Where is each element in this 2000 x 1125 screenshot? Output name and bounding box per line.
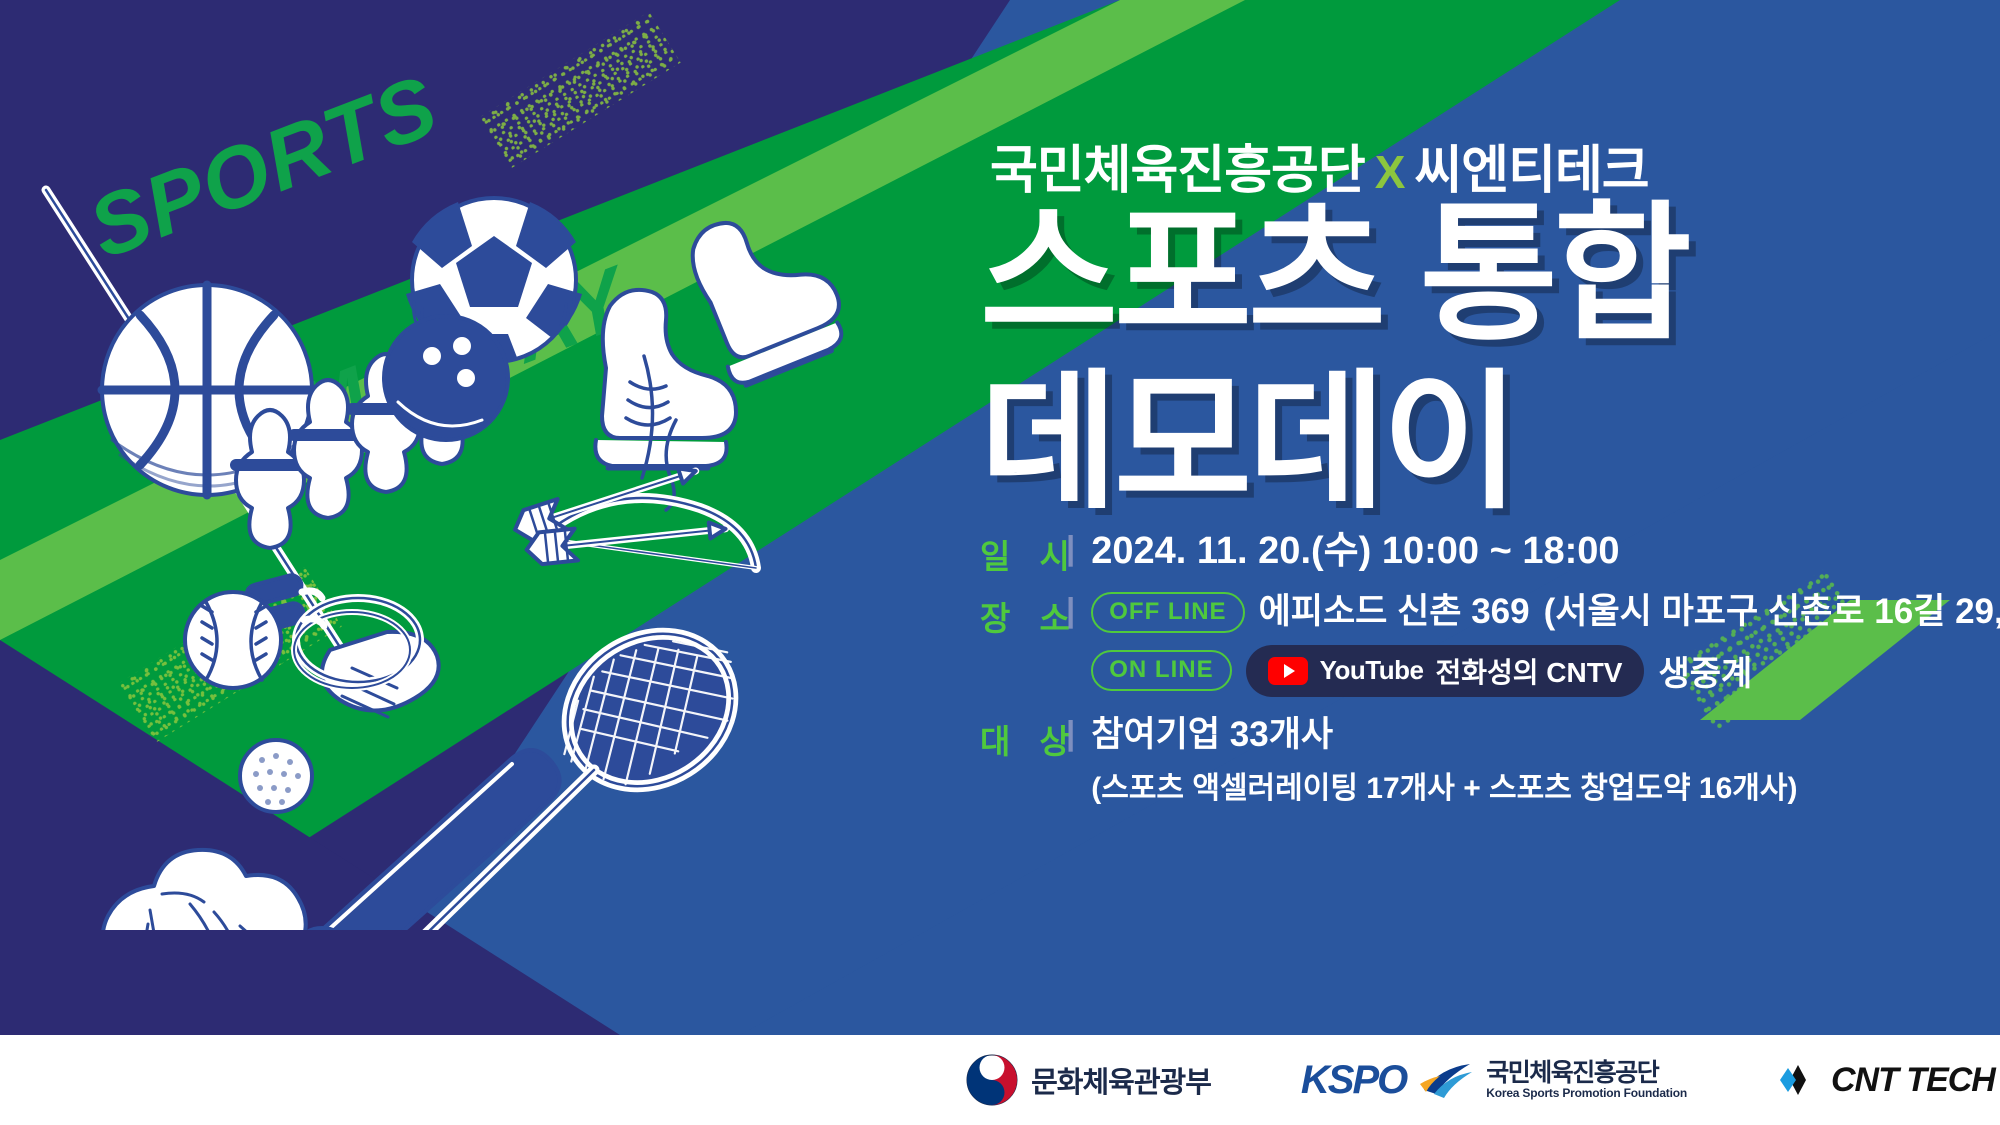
- info-row-place: 장 소 | OFF LINE 에피소드 신촌 369 (서울시 마포구 신촌로 …: [980, 592, 1990, 697]
- date-label: 일 시: [980, 530, 1066, 578]
- youtube-channel-badge[interactable]: YouTube 전화성의 CNTV: [1246, 645, 1645, 697]
- date-separator: |: [1066, 530, 1075, 566]
- youtube-play-icon: [1268, 657, 1308, 685]
- offline-badge: OFF LINE: [1091, 592, 1244, 633]
- kspo-korean-name: 국민체육진흥공단: [1486, 1060, 1687, 1088]
- taegeuk-icon: [965, 1053, 1019, 1107]
- online-badge: ON LINE: [1091, 650, 1231, 691]
- ice-skates-icon: [595, 192, 855, 510]
- live-stream-text: 생중계: [1658, 646, 1752, 695]
- target-separator: |: [1066, 715, 1075, 751]
- info-row-date: 일 시 | 2024. 11. 20.(수) 10:00 ~ 18:00: [980, 530, 1990, 578]
- footer-logo-bar: 문화체육관광부 KSPO 국민체육진흥공단 Korea Sports Promo…: [0, 1035, 2000, 1125]
- title-line-1: 스포츠 통합: [980, 190, 1688, 358]
- mcst-name: 문화체육관광부: [1031, 1059, 1211, 1101]
- bowling-ball-icon: [384, 316, 508, 440]
- cnt-diamond-icon: [1777, 1059, 1819, 1101]
- date-value: 2024. 11. 20.(수) 10:00 ~ 18:00: [1091, 530, 1619, 574]
- event-info-block: 일 시 | 2024. 11. 20.(수) 10:00 ~ 18:00 장 소…: [980, 530, 1990, 821]
- target-label: 대 상: [980, 715, 1066, 763]
- offline-address: (서울시 마포구 신촌로 16길 29, 2층): [1544, 592, 2000, 632]
- offline-row: OFF LINE 에피소드 신촌 369 (서울시 마포구 신촌로 16길 29…: [1091, 592, 2000, 633]
- place-separator: |: [1066, 592, 1075, 628]
- poster-canvas: SPORTS DEMO DAY: [0, 0, 2000, 1125]
- place-values: OFF LINE 에피소드 신촌 369 (서울시 마포구 신촌로 16길 29…: [1091, 592, 2000, 697]
- youtube-wordmark: YouTube: [1320, 655, 1424, 686]
- kspo-swoosh-icon: [1418, 1060, 1474, 1100]
- baseball-glove-icon: [103, 850, 306, 930]
- title-line-2: 데모데이: [980, 358, 1688, 526]
- place-label: 장 소: [980, 592, 1066, 640]
- badminton-racket-icon: [413, 603, 761, 930]
- baseball-icon: [185, 592, 281, 688]
- page-title: 스포츠 통합 데모데이: [980, 190, 1688, 526]
- cnt-tech-wordmark: CNT TECH: [1831, 1061, 1995, 1100]
- golf-ball-icon: [240, 740, 312, 812]
- bow-and-arrows-icon: [510, 456, 756, 568]
- info-row-target: 대 상 | 참여기업 33개사 (스포츠 액셀러레이팅 17개사 + 스포츠 창…: [980, 715, 1990, 807]
- target-detail: (스포츠 액셀러레이팅 17개사 + 스포츠 창업도약 16개사): [1091, 763, 1797, 807]
- logo-cnt-tech: CNT TECH: [1777, 1059, 1995, 1101]
- logo-kspo: KSPO 국민체육진흥공단 Korea Sports Promotion Fou…: [1301, 1058, 1687, 1103]
- kspo-wordmark: KSPO: [1301, 1058, 1406, 1103]
- kspo-english-name: Korea Sports Promotion Foundation: [1486, 1087, 1687, 1100]
- sports-equipment-illustration: [0, 150, 960, 930]
- offline-venue-name: 에피소드 신촌 369: [1259, 592, 1530, 632]
- target-values: 참여기업 33개사 (스포츠 액셀러레이팅 17개사 + 스포츠 창업도약 16…: [1091, 715, 1797, 807]
- logo-mcst: 문화체육관광부: [965, 1053, 1211, 1107]
- target-value: 참여기업 33개사: [1091, 715, 1797, 755]
- online-row: ON LINE YouTube 전화성의 CNTV 생중계: [1091, 645, 2000, 697]
- content-panel: 국민체육진흥공단X씨엔티테크 스포츠 통합 데모데이 일 시 | 2024. 1…: [960, 0, 2000, 1035]
- youtube-channel-name: 전화성의 CNTV: [1435, 651, 1622, 691]
